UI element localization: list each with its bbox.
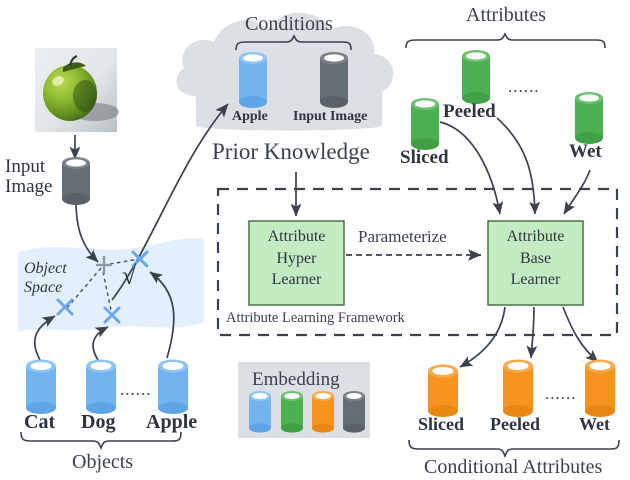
- hyper-learner-line3: Learner: [249, 269, 344, 291]
- object-label-cat: Cat: [24, 412, 55, 433]
- objects-ellipsis: ......: [120, 381, 152, 399]
- object-space-check-mark: √: [122, 262, 136, 289]
- cylinder-object-apple: [158, 360, 188, 415]
- hyper-learner-line2: Hyper: [249, 248, 344, 270]
- input-image-label: Input Image: [5, 157, 52, 197]
- cylinder-attribute-wet: [575, 92, 603, 144]
- conditions-group-label: Conditions: [245, 14, 333, 35]
- cylinder-condition-apple: [239, 52, 267, 108]
- embedding-panel-label: Embedding: [252, 370, 340, 390]
- cylinder-conditional-sliced: [428, 365, 458, 418]
- attribute-hyper-learner-label: Attribute Hyper Learner: [249, 226, 344, 291]
- base-learner-line2: Base: [488, 248, 583, 270]
- object-label-apple: Apple: [146, 412, 197, 433]
- attribute-label-wet: Wet: [569, 142, 602, 162]
- conditional-attributes-group-label: Conditional Attributes: [424, 457, 602, 478]
- attributes-ellipsis: ......: [508, 78, 540, 96]
- brace-conditional-attributes: [409, 440, 619, 456]
- cylinder-embedding-orange: [312, 391, 334, 433]
- object-space-label: Object Space: [24, 259, 67, 297]
- attribute-base-learner-label: Attribute Base Learner: [488, 226, 583, 291]
- cylinder-input-image: [62, 157, 90, 205]
- base-learner-line1: Attribute: [488, 226, 583, 248]
- arrow-dog-to-object-space: [93, 327, 108, 360]
- prior-knowledge-caption: Prior Knowledge: [212, 140, 370, 164]
- arrow-base-learner-to-sliced: [460, 307, 505, 367]
- condition-label-apple: Apple: [232, 110, 268, 125]
- cylinder-embedding-green: [281, 391, 303, 433]
- conditional-label-sliced: Sliced: [418, 415, 464, 434]
- cylinder-conditional-wet: [585, 360, 615, 418]
- cylinder-embedding-blue: [249, 391, 271, 433]
- brace-attributes: [406, 34, 605, 48]
- arrow-wet-to-base-learner: [564, 170, 590, 214]
- attribute-label-sliced: Sliced: [400, 148, 449, 168]
- cylinder-object-cat: [26, 360, 56, 415]
- input-image-label-line1: Input: [5, 157, 52, 177]
- brace-objects: [21, 432, 181, 448]
- conditional-attributes-ellipsis: ......: [545, 385, 577, 403]
- figure-canvas: Input Image Conditions Apple Input Image…: [0, 0, 630, 480]
- object-space-label-line1: Object: [24, 259, 67, 278]
- attributes-group-label: Attributes: [466, 5, 546, 26]
- attribute-label-peeled: Peeled: [443, 102, 496, 122]
- objects-group-label: Objects: [72, 452, 133, 473]
- arrow-peeled-to-base-learner: [497, 118, 535, 214]
- hyper-learner-line1: Attribute: [249, 226, 344, 248]
- object-space-label-line2: Space: [24, 278, 67, 297]
- cylinder-condition-input-image: [320, 52, 348, 108]
- parameterize-label: Parameterize: [358, 228, 447, 246]
- conditional-label-wet: Wet: [579, 415, 610, 434]
- cylinder-attribute-sliced: [411, 98, 439, 150]
- green-apple-photo: [35, 48, 119, 132]
- cylinder-attribute-peeled: [462, 50, 490, 104]
- cylinder-conditional-peeled: [503, 360, 533, 418]
- condition-label-input-image: Input Image: [293, 110, 367, 125]
- arrow-sliced-to-base-learner: [440, 122, 500, 214]
- framework-caption: Attribute Learning Framework: [226, 311, 405, 326]
- cylinder-object-dog: [86, 360, 116, 415]
- conditional-label-peeled: Peeled: [490, 415, 540, 434]
- cylinder-embedding-gray: [343, 391, 365, 433]
- arrow-base-learner-to-peeled: [531, 307, 534, 358]
- input-image-label-line2: Image: [5, 177, 52, 197]
- object-label-dog: Dog: [81, 412, 115, 433]
- base-learner-line3: Learner: [488, 269, 583, 291]
